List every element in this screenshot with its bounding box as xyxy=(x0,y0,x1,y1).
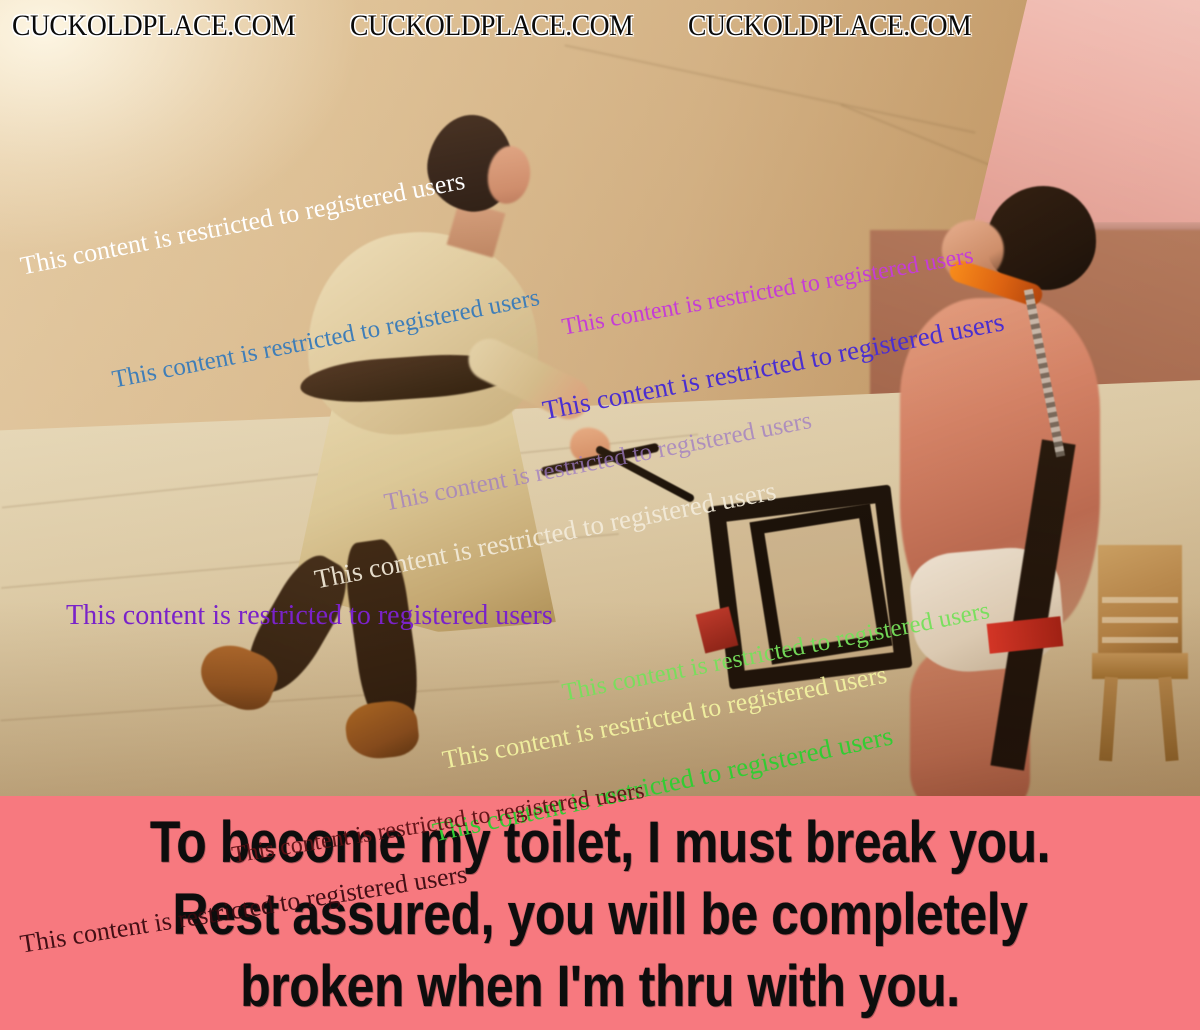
chair-slat xyxy=(1102,637,1178,643)
wooden-chair xyxy=(1092,545,1188,755)
chair-slat xyxy=(1102,597,1178,603)
caption-line-1: To become my toilet, I must break you. xyxy=(84,814,1116,872)
chair-seat xyxy=(1092,653,1188,679)
caption-band: To become my toilet, I must break you. R… xyxy=(0,796,1200,1030)
black-frame-inner xyxy=(749,503,892,664)
caption-line-3: broken when I'm thru with you. xyxy=(84,958,1116,1016)
site-watermark-bar: CUCKOLDPLACE.COM CUCKOLDPLACE.COM CUCKOL… xyxy=(0,0,1200,52)
chair-slat xyxy=(1102,617,1178,623)
man-red-band xyxy=(987,616,1064,654)
figure-woman xyxy=(180,110,600,750)
chair-leg-left xyxy=(1099,677,1118,762)
chair-leg-right xyxy=(1158,677,1178,762)
site-watermark-1: CUCKOLDPLACE.COM xyxy=(12,9,295,43)
screenshot-root: CUCKOLDPLACE.COM CUCKOLDPLACE.COM CUCKOL… xyxy=(0,0,1200,1030)
site-watermark-3: CUCKOLDPLACE.COM xyxy=(688,9,971,43)
caption-line-2: Rest assured, you will be completely xyxy=(84,886,1116,944)
site-watermark-2: CUCKOLDPLACE.COM xyxy=(350,9,633,43)
woman-torso xyxy=(296,221,546,444)
scene-photo xyxy=(0,0,1200,797)
